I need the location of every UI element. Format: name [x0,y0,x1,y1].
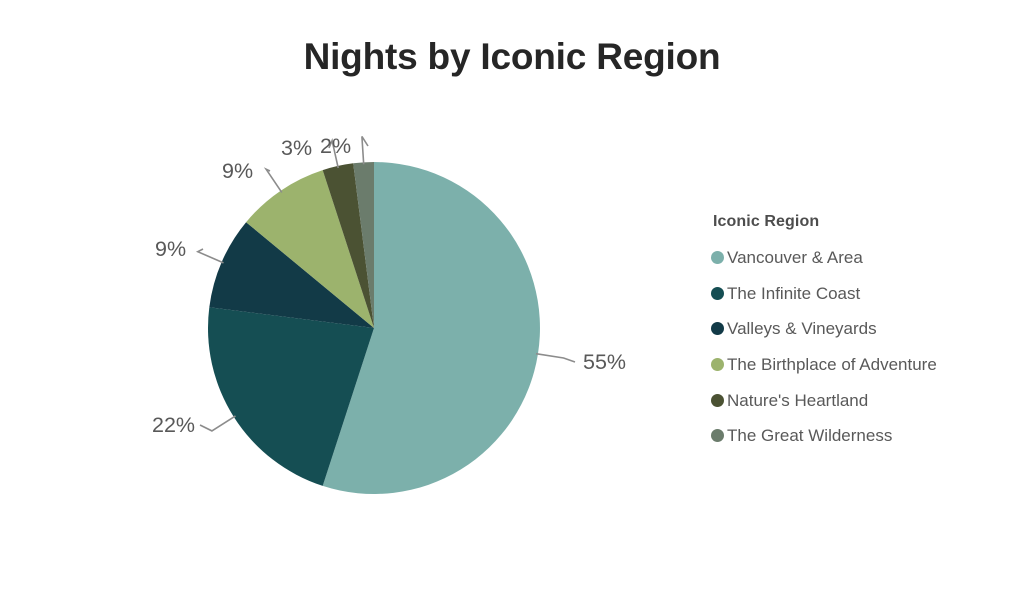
legend: Iconic Region Vancouver & AreaThe Infini… [711,213,1011,454]
legend-item[interactable]: Vancouver & Area [711,240,1011,276]
legend-item[interactable]: The Birthplace of Adventure [711,347,1011,383]
legend-item[interactable]: Valleys & Vineyards [711,311,1011,347]
legend-title: Iconic Region [713,213,1011,231]
legend-item-label: The Infinite Coast [727,285,860,302]
legend-color-swatch [711,251,724,264]
legend-item[interactable]: The Great Wilderness [711,418,1011,454]
legend-item[interactable]: Nature's Heartland [711,382,1011,418]
pie-slice-group[interactable] [208,162,540,494]
slice-value-label: 9% [155,237,186,261]
legend-item-label: Valleys & Vineyards [727,320,877,337]
slice-value-label: 3% [281,136,312,160]
legend-color-swatch [711,358,724,371]
legend-color-swatch [711,429,724,442]
slice-value-label: 9% [222,159,253,183]
leader-line [198,249,224,263]
slice-value-label: 2% [320,134,351,158]
legend-item-label: Vancouver & Area [727,249,863,266]
legend-item-label: The Great Wilderness [727,427,892,444]
leader-line [200,416,236,431]
legend-color-swatch [711,287,724,300]
leader-line [266,169,282,192]
leader-line [536,354,575,362]
legend-item-label: The Birthplace of Adventure [727,356,937,373]
slice-value-label: 55% [583,350,626,374]
legend-color-swatch [711,394,724,407]
slice-value-label: 22% [152,413,195,437]
legend-color-swatch [711,322,724,335]
legend-item[interactable]: The Infinite Coast [711,276,1011,312]
legend-item-label: Nature's Heartland [727,392,868,409]
leader-line [362,136,368,164]
legend-item-list[interactable]: Vancouver & AreaThe Infinite CoastValley… [711,240,1011,454]
pie-chart: Nights by Iconic Region 55%22%9%9%3%2% I… [0,0,1024,598]
